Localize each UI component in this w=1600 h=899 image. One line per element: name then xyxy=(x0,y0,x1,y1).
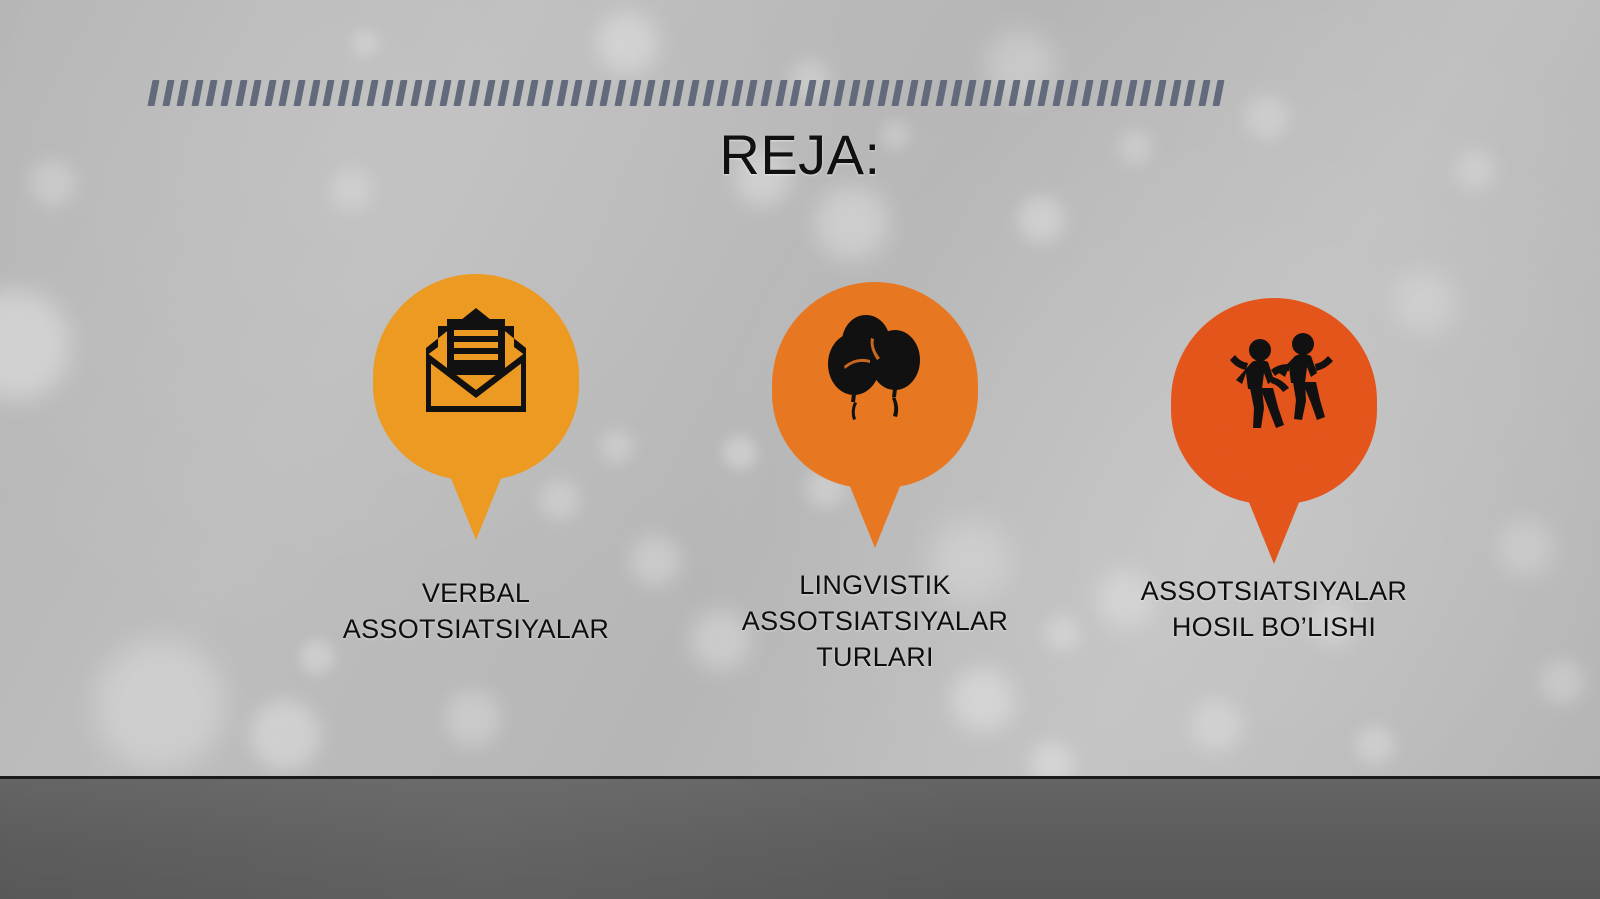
page-title: REJA: xyxy=(0,122,1600,187)
pin-tip xyxy=(1214,416,1334,564)
dash-mark xyxy=(250,80,262,106)
dash-mark xyxy=(702,80,714,106)
pin-caption: LINGVISTIK ASSOTSIATSIYALAR TURLARI xyxy=(715,568,1035,676)
dash-mark xyxy=(293,80,305,106)
slide-canvas: REJA: xyxy=(0,0,1600,776)
map-pin-shape xyxy=(373,274,579,536)
dash-mark xyxy=(906,80,918,106)
dash-mark xyxy=(833,80,845,106)
dash-mark xyxy=(658,80,670,106)
dash-mark xyxy=(235,80,247,106)
dash-mark xyxy=(425,80,437,106)
map-pin-shape xyxy=(1171,298,1377,560)
dash-mark xyxy=(731,80,743,106)
dash-mark xyxy=(454,80,466,106)
dash-mark xyxy=(337,80,349,106)
dash-mark xyxy=(1081,80,1093,106)
dash-mark xyxy=(498,80,510,106)
dash-mark xyxy=(819,80,831,106)
dash-mark xyxy=(571,80,583,106)
dash-mark xyxy=(469,80,481,106)
dash-mark xyxy=(877,80,889,106)
dash-mark xyxy=(644,80,656,106)
dash-mark xyxy=(746,80,758,106)
dash-mark xyxy=(308,80,320,106)
dash-mark xyxy=(1023,80,1035,106)
dash-mark xyxy=(979,80,991,106)
pin-item-lingvistik[interactable]: LINGVISTIK ASSOTSIATSIYALAR TURLARI xyxy=(715,282,1035,676)
dash-mark xyxy=(527,80,539,106)
dash-mark xyxy=(439,80,451,106)
pin-caption: ASSOTSIATSIYALAR HOSIL BO’LISHI xyxy=(1114,574,1434,646)
dash-mark xyxy=(687,80,699,106)
dash-mark xyxy=(220,80,232,106)
dash-mark xyxy=(352,80,364,106)
dash-mark xyxy=(410,80,422,106)
dash-mark xyxy=(790,80,802,106)
dash-mark xyxy=(366,80,378,106)
dash-mark xyxy=(673,80,685,106)
dash-mark xyxy=(600,80,612,106)
dash-mark xyxy=(614,80,626,106)
pin-item-hosil-bolishi[interactable]: ASSOTSIATSIYALAR HOSIL BO’LISHI xyxy=(1114,298,1434,646)
balloons-icon xyxy=(772,314,978,430)
dash-mark xyxy=(483,80,495,106)
dash-mark xyxy=(775,80,787,106)
envelope-letter-icon xyxy=(373,306,579,418)
dash-mark xyxy=(206,80,218,106)
dash-mark xyxy=(848,80,860,106)
dash-mark xyxy=(512,80,524,106)
dash-mark xyxy=(1038,80,1050,106)
dashed-rule-decoration xyxy=(150,78,1382,108)
dash-mark xyxy=(396,80,408,106)
dash-mark xyxy=(556,80,568,106)
dash-mark xyxy=(717,80,729,106)
dash-mark xyxy=(804,80,816,106)
dancing-people-icon xyxy=(1171,330,1377,434)
dash-mark xyxy=(1052,80,1064,106)
dash-mark xyxy=(965,80,977,106)
dash-mark xyxy=(1184,80,1196,106)
dash-mark xyxy=(1169,80,1181,106)
dash-mark xyxy=(162,80,174,106)
dash-mark xyxy=(936,80,948,106)
dash-mark xyxy=(1125,80,1137,106)
dash-mark xyxy=(191,80,203,106)
pin-item-verbal[interactable]: VERBAL ASSOTSIATSIYALAR xyxy=(316,274,636,648)
pin-caption: VERBAL ASSOTSIATSIYALAR xyxy=(316,576,636,648)
dash-mark xyxy=(950,80,962,106)
dash-mark xyxy=(921,80,933,106)
dash-mark xyxy=(760,80,772,106)
dash-mark xyxy=(264,80,276,106)
dash-mark xyxy=(1009,80,1021,106)
dash-mark xyxy=(1111,80,1123,106)
dash-mark xyxy=(585,80,597,106)
dash-mark xyxy=(1140,80,1152,106)
dash-mark xyxy=(892,80,904,106)
dash-mark xyxy=(629,80,641,106)
app-bottom-bar xyxy=(0,779,1600,899)
presentation-stage: REJA: xyxy=(0,0,1600,899)
dash-mark xyxy=(1198,80,1210,106)
dash-mark xyxy=(542,80,554,106)
dash-mark xyxy=(381,80,393,106)
map-pin-shape xyxy=(772,282,978,544)
pin-row: VERBAL ASSOTSIATSIYALAR xyxy=(0,262,1600,692)
dash-mark xyxy=(177,80,189,106)
dash-mark xyxy=(1067,80,1079,106)
dash-mark xyxy=(323,80,335,106)
dash-mark xyxy=(147,80,159,106)
dash-mark xyxy=(1096,80,1108,106)
dash-mark xyxy=(1154,80,1166,106)
dash-mark xyxy=(994,80,1006,106)
dash-mark xyxy=(1213,80,1225,106)
dash-mark xyxy=(279,80,291,106)
dash-mark xyxy=(863,80,875,106)
